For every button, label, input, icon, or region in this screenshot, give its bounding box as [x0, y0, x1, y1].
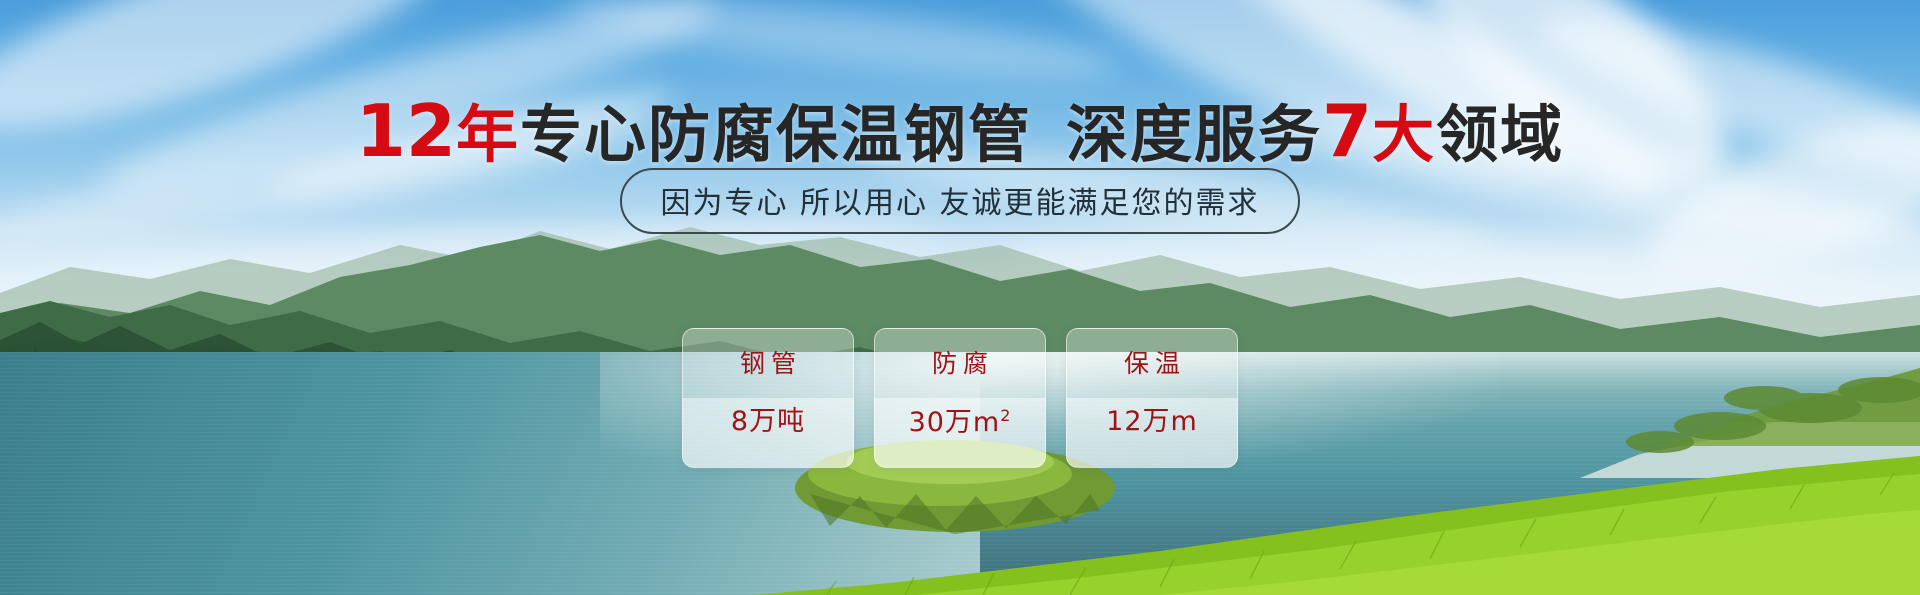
stat-card-value-main: 30万m — [909, 407, 1001, 438]
stat-card-value-main: 12万m — [1106, 406, 1198, 437]
headline-years-number: 12 — [356, 89, 456, 173]
headline-part-a: 专心防腐保温钢管 — [520, 98, 1032, 171]
headline-fields-unit: 大 — [1372, 98, 1436, 171]
stat-card-value: 12万m — [1106, 408, 1198, 435]
page-title: 12年专心防腐保温钢管深度服务7大领域 — [0, 84, 1920, 174]
stat-card-anticorrosion[interactable]: 防腐 30万m2 — [874, 328, 1046, 468]
stat-card-insulation[interactable]: 保温 12万m — [1066, 328, 1238, 468]
stat-card-steel-pipe[interactable]: 钢管 8万吨 — [682, 328, 854, 468]
stat-card-label: 钢管 — [734, 351, 802, 376]
hero-banner: 12年专心防腐保温钢管深度服务7大领域 因为专心 所以用心 友诚更能满足您的需求… — [0, 0, 1920, 595]
grass-bank — [640, 455, 1920, 595]
headline-part-b: 深度服务 — [1066, 98, 1322, 171]
headline-part-c: 领域 — [1436, 98, 1564, 171]
stat-card-label: 防腐 — [926, 351, 994, 376]
subtitle-pill: 因为专心 所以用心 友诚更能满足您的需求 — [620, 168, 1299, 234]
stat-card-group: 钢管 8万吨 防腐 30万m2 保温 12万m — [0, 328, 1920, 468]
headline-years-unit: 年 — [456, 98, 520, 171]
subtitle-container: 因为专心 所以用心 友诚更能满足您的需求 — [0, 168, 1920, 234]
stat-card-label: 保温 — [1118, 351, 1186, 376]
stat-card-value: 30万m2 — [909, 408, 1012, 436]
headline-fields-number: 7 — [1322, 89, 1372, 173]
stat-card-value: 8万吨 — [731, 408, 805, 435]
stat-card-value-main: 8万吨 — [731, 406, 805, 437]
stat-card-value-superscript: 2 — [1000, 406, 1011, 425]
